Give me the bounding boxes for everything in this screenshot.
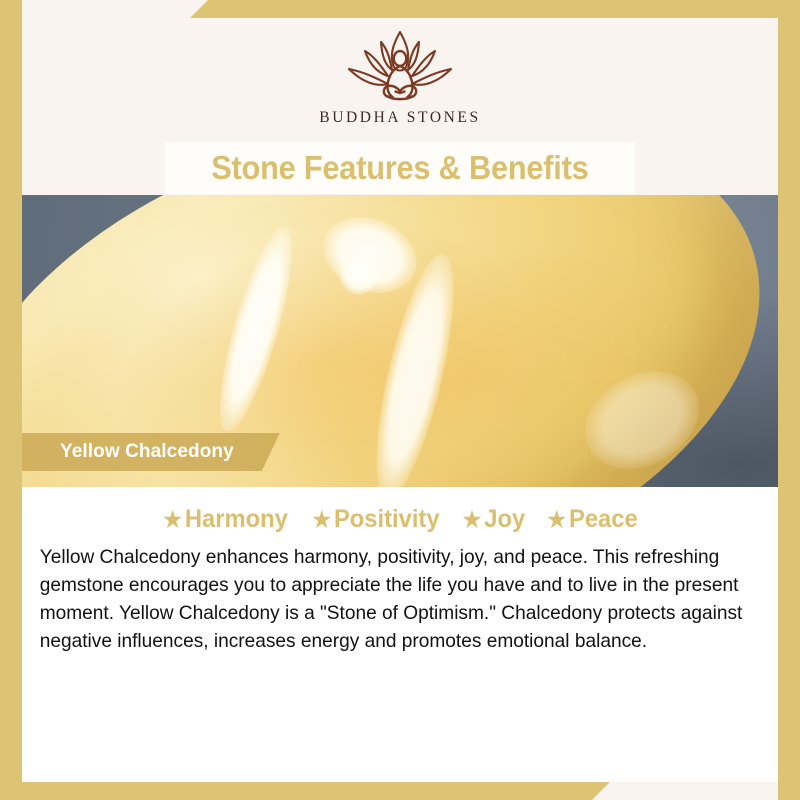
brand-name: BUDDHA STONES — [319, 109, 480, 127]
title-band: Stone Features & Benefits — [165, 142, 635, 194]
keyword-item-positivity: ★ Positivity — [313, 505, 440, 534]
keyword-label: Joy — [484, 505, 525, 534]
stone-name-label: Yellow Chalcedony — [60, 441, 234, 463]
gold-right-border — [778, 18, 800, 800]
lotus-meditation-figure-icon — [340, 26, 460, 108]
keyword-label: Positivity — [334, 505, 440, 534]
stone-name-banner: Yellow Chalcedony — [22, 433, 280, 471]
star-icon: ★ — [463, 509, 482, 531]
gold-top-border — [190, 0, 800, 18]
content-panel: ★ Harmony ★ Positivity ★ Joy ★ Peace Yel… — [22, 487, 778, 782]
gold-left-border — [0, 0, 22, 782]
page-body: BUDDHA STONES Stone Features & Benefits … — [22, 18, 778, 782]
gold-bottom-border — [0, 782, 610, 800]
star-icon: ★ — [163, 509, 182, 531]
keyword-item-joy: ★ Joy — [463, 505, 526, 534]
star-icon: ★ — [547, 509, 566, 531]
keyword-list: ★ Harmony ★ Positivity ★ Joy ★ Peace — [22, 487, 778, 534]
star-icon: ★ — [313, 509, 332, 531]
page-title: Stone Features & Benefits — [211, 149, 588, 187]
keyword-item-peace: ★ Peace — [547, 505, 637, 534]
brand-header: BUDDHA STONES — [22, 18, 778, 142]
stone-benefits-infographic: BUDDHA STONES Stone Features & Benefits … — [0, 0, 800, 800]
keyword-item-harmony: ★ Harmony — [163, 505, 288, 534]
keyword-label: Peace — [569, 505, 638, 534]
keyword-label: Harmony — [185, 505, 288, 534]
stone-photo: Yellow Chalcedony — [22, 195, 778, 487]
description-text: Yellow Chalcedony enhances harmony, posi… — [22, 543, 767, 655]
